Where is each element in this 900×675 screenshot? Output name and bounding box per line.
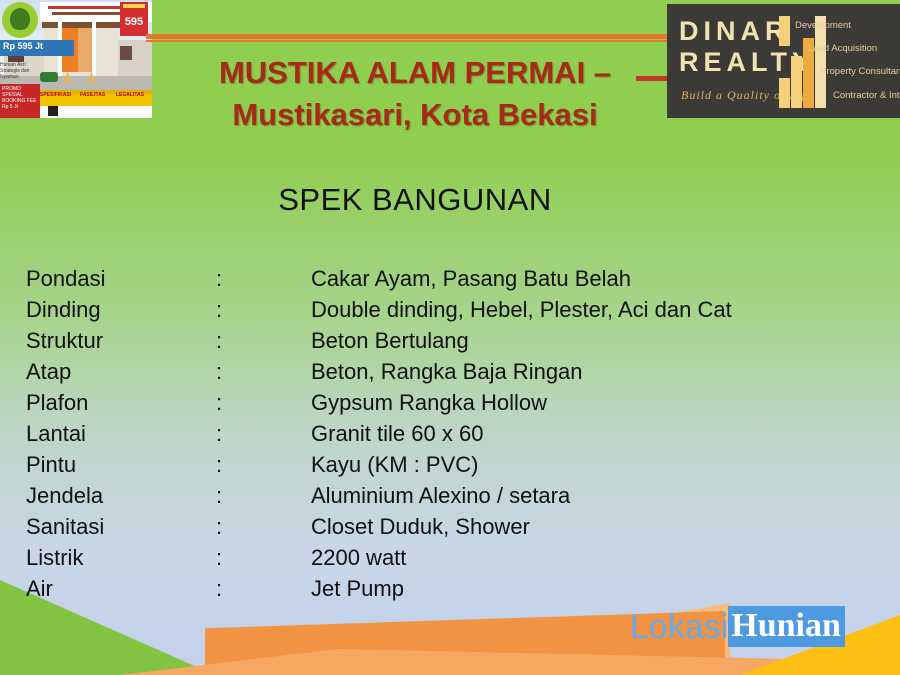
spec-value: Aluminium Alexino / setara [311, 483, 866, 509]
logo-service-4: Contractor & Interior Design [833, 90, 900, 101]
logo-service-3: Property Consultant [820, 66, 900, 77]
thumb-top-subline [52, 12, 120, 15]
spec-value: Beton Bertulang [311, 328, 866, 354]
spec-row: Sanitasi:Closet Duduk, Shower [26, 514, 866, 545]
spec-row: Pondasi:Cakar Ayam, Pasang Batu Belah [26, 266, 866, 297]
logo-bar-2-top [791, 56, 802, 68]
spec-label: Sanitasi [26, 514, 216, 540]
spec-separator: : [216, 545, 311, 571]
spec-value: Beton, Rangka Baja Ringan [311, 359, 866, 385]
spec-separator: : [216, 266, 311, 292]
thumb-logo-leaf-icon [10, 8, 30, 30]
spec-label: Pondasi [26, 266, 216, 292]
spec-value: Double dinding, Hebel, Plester, Aci dan … [311, 297, 866, 323]
spec-row: Pintu:Kayu (KM : PVC) [26, 452, 866, 483]
spec-row: Dinding:Double dinding, Hebel, Plester, … [26, 297, 866, 328]
thumb-price-badge-top [123, 4, 145, 8]
slide-title-line-1: MUSTIKA ALAM PERMAI – [160, 52, 670, 94]
spec-separator: : [216, 359, 311, 385]
thumb-column-right [92, 18, 96, 76]
spec-separator: : [216, 297, 311, 323]
section-heading: SPEK BANGUNAN [0, 182, 830, 218]
thumb-feature-3: LEGALITAS [116, 92, 144, 98]
spec-label: Lantai [26, 421, 216, 447]
spec-label: Atap [26, 359, 216, 385]
spec-separator: : [216, 421, 311, 447]
spec-label: Dinding [26, 297, 216, 323]
spec-separator: : [216, 328, 311, 354]
spec-value: Kayu (KM : PVC) [311, 452, 866, 478]
logo-bar-1-top [779, 16, 790, 46]
divider-rule-secondary [146, 40, 670, 42]
spec-label: Struktur [26, 328, 216, 354]
thumb-price-banner-label: Rp 595 Jt [3, 41, 43, 51]
spec-separator: : [216, 514, 311, 540]
logo-service-2: Land Acquisition [808, 43, 877, 54]
spec-separator: : [216, 483, 311, 509]
spec-label: Pintu [26, 452, 216, 478]
spec-row: Lantai:Granit tile 60 x 60 [26, 421, 866, 452]
watermark-part-lokasi: Lokasi [630, 608, 728, 646]
thumb-feature-1: SPESIFIKASI [40, 92, 71, 98]
watermark-part-hunian: Hunian [728, 606, 845, 647]
thumb-feature-2: FASILITAS [80, 92, 105, 98]
spec-label: Jendela [26, 483, 216, 509]
logo-bar-1 [779, 78, 790, 108]
spec-separator: : [216, 452, 311, 478]
spec-row: Air:Jet Pump [26, 576, 866, 607]
watermark-lokasihunian: Lokasi Hunian [630, 606, 845, 647]
spec-value: Closet Duduk, Shower [311, 514, 866, 540]
spec-value: 2200 watt [311, 545, 866, 571]
thumb-side-note: Hunian Asri Strategis dan Nyaman [0, 62, 40, 80]
thumb-price-badge-value: 595 [122, 14, 146, 30]
spec-separator: : [216, 576, 311, 602]
dinar-realty-logo: DINAR REALTY Build a Quality of Life Dev… [667, 4, 900, 118]
spec-row: Listrik:2200 watt [26, 545, 866, 576]
spec-row: Jendela:Aluminium Alexino / setara [26, 483, 866, 514]
slide-main-title: MUSTIKA ALAM PERMAI – Mustikasari, Kota … [160, 52, 670, 136]
spec-label: Air [26, 576, 216, 602]
logo-brand-line-1: DINAR [679, 18, 790, 45]
spec-separator: : [216, 390, 311, 416]
thumb-top-headline [48, 6, 128, 9]
spec-value: Granit tile 60 x 60 [311, 421, 866, 447]
spec-label: Listrik [26, 545, 216, 571]
logo-service-1: Development [795, 20, 851, 31]
divider-rule-primary [146, 34, 670, 39]
specification-list: Pondasi:Cakar Ayam, Pasang Batu BelahDin… [26, 266, 866, 607]
presentation-slide: Rp 595 Jt 595 Hunian Asri Strategis dan … [0, 0, 900, 675]
spec-label: Plafon [26, 390, 216, 416]
thumb-promo-text: PROMO SPESIAL BOOKING FEE Rp 5 Jt [2, 86, 38, 110]
brochure-thumbnail-image: Rp 595 Jt 595 Hunian Asri Strategis dan … [0, 0, 152, 118]
spec-row: Atap:Beton, Rangka Baja Ringan [26, 359, 866, 390]
spec-value: Jet Pump [311, 576, 866, 602]
spec-value: Gypsum Rangka Hollow [311, 390, 866, 416]
slide-title-line-2: Mustikasari, Kota Bekasi [160, 94, 670, 136]
thumb-right-window [120, 46, 132, 60]
thumb-qr-code-icon [48, 106, 58, 116]
spec-row: Plafon:Gypsum Rangka Hollow [26, 390, 866, 421]
spec-value: Cakar Ayam, Pasang Batu Belah [311, 266, 866, 292]
spec-row: Struktur:Beton Bertulang [26, 328, 866, 359]
thumb-car [40, 72, 58, 82]
